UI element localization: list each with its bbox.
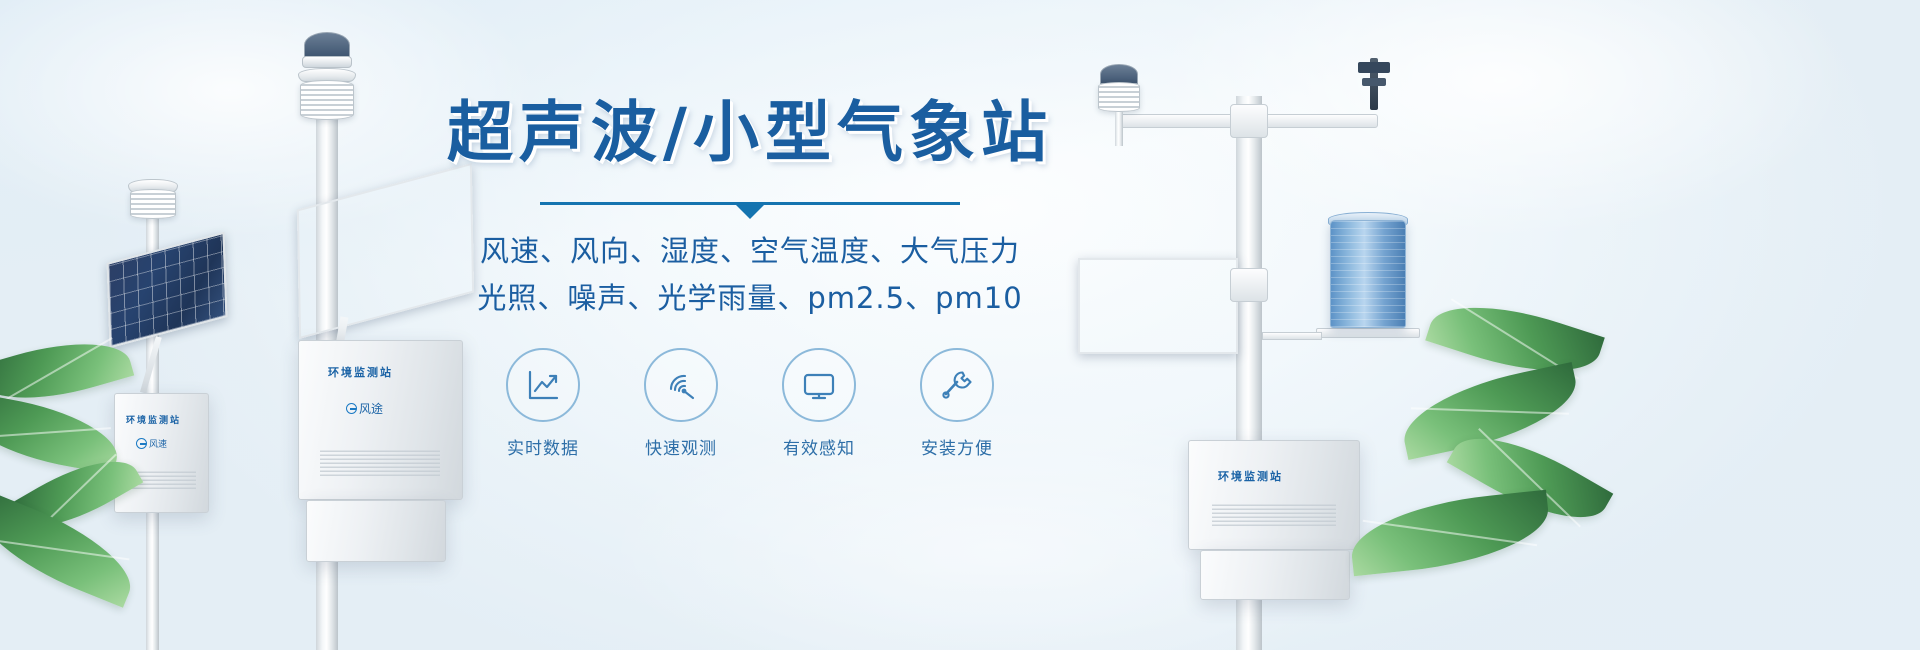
signal-wave-icon — [661, 365, 701, 405]
banner-content: 超声波/小型气象站 风速、风向、湿度、空气温度、大气压力 光照、噪声、光学雨量、… — [440, 96, 1060, 459]
cabinet-brand: 风速 — [136, 437, 167, 450]
equipment-cabinet — [1188, 440, 1360, 550]
mast-collar — [1230, 268, 1268, 302]
subtitle-block: 风速、风向、湿度、空气温度、大气压力 光照、噪声、光学雨量、pm2.5、pm10 — [440, 228, 1060, 322]
radiation-shield — [130, 189, 176, 219]
feature-label: 安装方便 — [909, 434, 1005, 459]
brand-name: 风途 — [359, 400, 383, 417]
cabinet-vent — [320, 450, 440, 476]
brand-logo-icon — [346, 403, 357, 414]
feature-circle — [782, 348, 856, 422]
cabinet-label: 环境监测站 — [328, 364, 393, 380]
page-title: 超声波/小型气象站 — [440, 96, 1060, 170]
monitor-icon — [799, 365, 839, 405]
subtitle-line-2: 光照、噪声、光学雨量、pm2.5、pm10 — [440, 275, 1060, 322]
solar-panel-array — [1078, 258, 1238, 354]
feature-circle — [920, 348, 994, 422]
cabinet-vent — [1212, 502, 1336, 526]
feature-circle — [644, 348, 718, 422]
feature-item-realtime-data[interactable]: 实时数据 — [495, 348, 591, 459]
cabinet-label: 环境监测站 — [126, 413, 181, 426]
wind-vane — [1356, 58, 1392, 118]
brand-name: 风速 — [149, 437, 167, 450]
mast-collar — [1230, 104, 1268, 138]
feature-item-fast-observation[interactable]: 快速观测 — [633, 348, 729, 459]
gauge-platform — [1316, 328, 1420, 338]
feature-label: 快速观测 — [633, 434, 729, 459]
equipment-cabinet — [114, 393, 209, 513]
solar-panel — [107, 232, 228, 349]
wrench-icon — [937, 365, 977, 405]
cabinet-brand: 风途 — [346, 400, 383, 417]
feature-label: 实时数据 — [495, 434, 591, 459]
line-chart-icon — [523, 365, 563, 405]
ultrasonic-anemometer-dome — [1100, 64, 1138, 84]
rain-gauge — [1330, 220, 1406, 328]
sensor-stem — [1115, 112, 1123, 146]
feature-label: 有效感知 — [771, 434, 867, 459]
divider — [540, 196, 960, 212]
feature-list: 实时数据 快速观测 — [440, 348, 1060, 459]
radiation-shield — [300, 80, 354, 120]
lower-cabinet — [306, 500, 446, 562]
feature-item-easy-installation[interactable]: 安装方便 — [909, 348, 1005, 459]
lower-cabinet — [1200, 550, 1350, 600]
feature-circle — [506, 348, 580, 422]
weather-station-banner: 环境监测站 风速 环境监测站 风途 — [0, 0, 1920, 650]
gauge-support — [1262, 332, 1322, 340]
subtitle-line-1: 风速、风向、湿度、空气温度、大气压力 — [440, 228, 1060, 275]
divider-triangle-icon — [736, 205, 764, 219]
ultrasonic-sensor-body — [302, 56, 352, 68]
ultrasonic-sensor-dome — [304, 32, 350, 58]
feature-item-effective-sensing[interactable]: 有效感知 — [771, 348, 867, 459]
brand-logo-icon — [136, 438, 147, 449]
cabinet-label: 环境监测站 — [1218, 468, 1283, 484]
radiation-shield — [1098, 82, 1140, 112]
